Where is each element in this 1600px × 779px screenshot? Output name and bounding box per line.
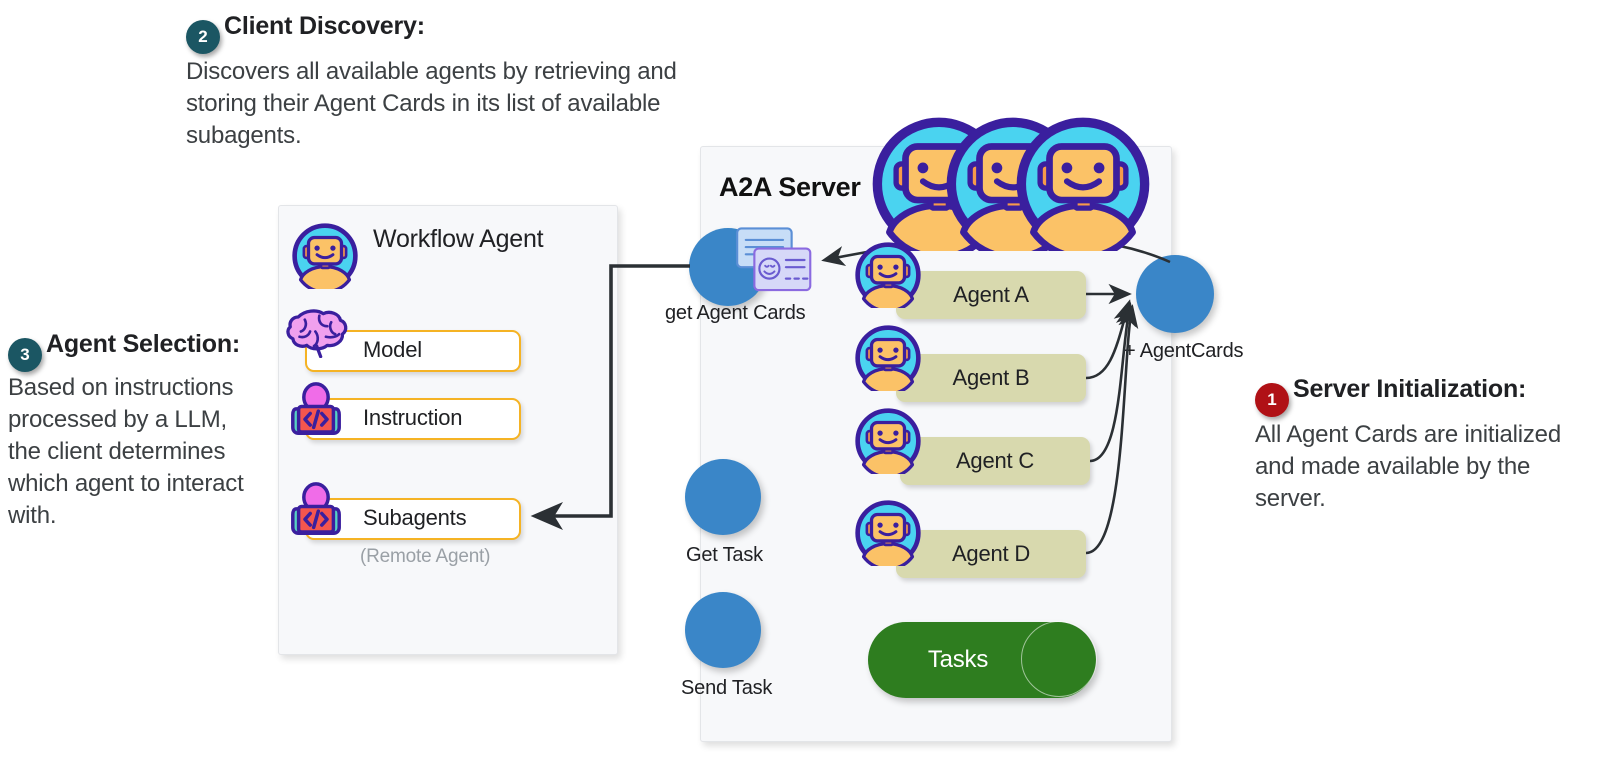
- workflow-agent-title: Workflow Agent: [373, 225, 543, 254]
- annotation-2-line: 2Client Discovery:: [186, 12, 746, 54]
- agent-b-label: Agent B: [953, 365, 1030, 390]
- cylinder-cap: [1021, 621, 1097, 697]
- annotation-1-line: 1Server Initialization:: [1255, 375, 1585, 417]
- remote-agent-caption: (Remote Agent): [360, 546, 490, 568]
- send-task-node[interactable]: [685, 592, 761, 668]
- pill-instruction[interactable]: Instruction: [305, 398, 521, 440]
- get-task-label: Get Task: [686, 544, 763, 567]
- annotation-agent-selection: 3Agent Selection: Based on instructions …: [8, 330, 258, 532]
- diagram-canvas: 2Client Discovery: Discovers all availab…: [0, 0, 1600, 779]
- pill-subagents[interactable]: Subagents: [305, 498, 521, 540]
- agent-d-label: Agent D: [952, 541, 1030, 566]
- agent-row-c[interactable]: Agent C: [900, 437, 1090, 485]
- pill-subagents-label: Subagents: [363, 505, 466, 530]
- agent-cards-aggregate-label: + AgentCards: [1124, 340, 1243, 363]
- step-badge-2: 2: [186, 20, 220, 54]
- agent-row-a[interactable]: Agent A: [896, 271, 1086, 319]
- pill-model[interactable]: Model: [305, 330, 521, 372]
- agent-row-b[interactable]: Agent B: [896, 354, 1086, 402]
- annotation-client-discovery: 2Client Discovery: Discovers all availab…: [186, 12, 746, 152]
- annotation-1-body: All Agent Cards are initialized and made…: [1255, 419, 1585, 515]
- annotation-server-initialization: 1Server Initialization: All Agent Cards …: [1255, 375, 1585, 515]
- annotation-3-line: 3Agent Selection:: [8, 330, 258, 372]
- get-agent-cards-node[interactable]: [689, 228, 767, 306]
- step-badge-3: 3: [8, 338, 42, 372]
- pill-instruction-label: Instruction: [363, 405, 462, 430]
- agent-row-d[interactable]: Agent D: [896, 530, 1086, 578]
- annotation-1-title: Server Initialization:: [1293, 375, 1526, 403]
- annotation-3-body: Based on instructions processed by a LLM…: [8, 372, 258, 532]
- agent-a-label: Agent A: [953, 282, 1029, 307]
- tasks-datastore[interactable]: Tasks: [868, 622, 1096, 698]
- pill-model-label: Model: [363, 337, 422, 362]
- annotation-2-title: Client Discovery:: [224, 12, 425, 40]
- send-task-label: Send Task: [681, 677, 772, 700]
- get-task-node[interactable]: [685, 459, 761, 535]
- get-agent-cards-label: get Agent Cards: [665, 302, 805, 325]
- a2a-server-title: A2A Server: [719, 172, 861, 203]
- agent-cards-aggregate-node[interactable]: [1136, 255, 1214, 333]
- annotation-2-body: Discovers all available agents by retrie…: [186, 56, 746, 152]
- step-badge-1: 1: [1255, 383, 1289, 417]
- agent-c-label: Agent C: [956, 448, 1034, 473]
- annotation-3-title: Agent Selection:: [46, 330, 240, 358]
